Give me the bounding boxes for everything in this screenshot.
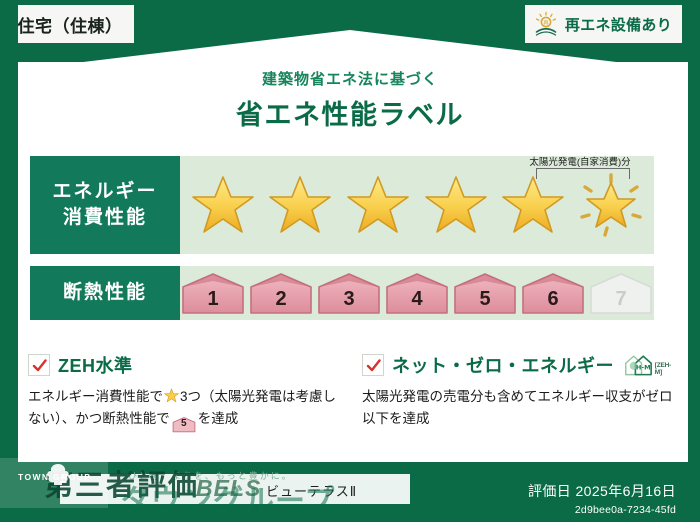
town-group-label: TOWN GROUP bbox=[18, 472, 91, 482]
zeh-m-house-icon: H-M bbox=[624, 352, 654, 378]
zeh-m-logo-caption: [ZEH-M] bbox=[655, 362, 676, 378]
insulation-level-4-value: 4 bbox=[411, 288, 422, 315]
insulation-level-2: 2 bbox=[248, 271, 314, 315]
insulation-level-1-value: 1 bbox=[207, 288, 218, 315]
label-id: 2d9bee0a-7234-45fd bbox=[528, 504, 676, 516]
title-main: 省エネ性能ラベル bbox=[0, 93, 700, 132]
zeh-panel-header: ZEH水準 bbox=[28, 352, 346, 378]
star-icon bbox=[424, 173, 488, 237]
zeh-desc-part-1: エネルギー消費性能で bbox=[28, 389, 163, 404]
zeh-panel-title: ZEH水準 bbox=[58, 352, 133, 378]
svg-text:再: 再 bbox=[543, 19, 549, 26]
insulation-level-3-value: 3 bbox=[343, 288, 354, 315]
evaluation-date: 評価日 2025年6月16日 bbox=[528, 481, 676, 501]
footer-info: 評価日 2025年6月16日 2d9bee0a-7234-45fd bbox=[528, 481, 676, 516]
insulation-level-badge-inline: 5 bbox=[172, 416, 196, 433]
insulation-level-track: 1 2 3 4 bbox=[180, 266, 654, 320]
watermark-overlay: ひとを、まちを、もっと豊かに。 BELS ビューテラスⅡ 第三者評価 タウングル… bbox=[0, 458, 470, 522]
insulation-level-6: 6 bbox=[520, 271, 586, 315]
town-group-tree-icon: TOWN GROUP bbox=[10, 462, 106, 488]
insulation-level-7-value: 7 bbox=[615, 288, 626, 315]
title-subtitle: 建築物省エネ法に基づく bbox=[0, 68, 700, 89]
sun-icon: 再 bbox=[533, 11, 559, 37]
insulation-performance-heading: 断熱性能 bbox=[30, 266, 180, 320]
nze-panel-title: ネット・ゼロ・エネルギー bbox=[392, 352, 614, 378]
nze-panel-description: 太陽光発電の売電分も含めてエネルギー収支がゼロ以下を達成 bbox=[362, 386, 674, 430]
insulation-level-4: 4 bbox=[384, 271, 450, 315]
insulation-level-5: 5 bbox=[452, 271, 518, 315]
frame-right-border bbox=[688, 0, 700, 522]
building-type-tag: 住宅（住棟） bbox=[6, 5, 134, 43]
energy-heading-line-1: エネルギー bbox=[52, 179, 157, 205]
renewable-energy-badge: 再 再エネ設備あり bbox=[525, 5, 682, 43]
zeh-standard-panel: ZEH水準 エネルギー消費性能で3つ（太陽光発電は考慮しない）、かつ断熱性能で5… bbox=[28, 352, 346, 433]
insulation-level-1: 1 bbox=[180, 271, 246, 315]
title-block: 建築物省エネ法に基づく 省エネ性能ラベル bbox=[0, 62, 700, 132]
star-icon bbox=[501, 173, 565, 237]
energy-heading-line-2: 消費性能 bbox=[63, 205, 147, 231]
svg-text:H-M: H-M bbox=[636, 363, 651, 371]
insulation-level-badge-inline-value: 5 bbox=[181, 416, 187, 433]
insulation-level-7: 7 bbox=[588, 271, 654, 315]
pv-annotation-bracket bbox=[536, 168, 630, 179]
group-name-watermark: タウングループ bbox=[120, 476, 335, 520]
insulation-performance-row: 断熱性能 1 2 bbox=[30, 266, 654, 320]
renewable-energy-badge-label: 再エネ設備あり bbox=[565, 14, 672, 35]
insulation-level-6-value: 6 bbox=[547, 288, 558, 315]
pv-annotation-label: 太陽光発電(自家消費)分 bbox=[510, 154, 650, 168]
energy-star-track: 太陽光発電(自家消費)分 bbox=[180, 156, 654, 254]
check-icon bbox=[28, 354, 50, 376]
zeh-panel-description: エネルギー消費性能で3つ（太陽光発電は考慮しない）、かつ断熱性能で5を達成 bbox=[28, 386, 346, 433]
energy-performance-label: 住宅（住棟） 再 再エネ設備あり 建築物省エネ法に基づく 省エネ性能ラベル bbox=[0, 0, 700, 522]
energy-performance-row: エネルギー 消費性能 bbox=[30, 156, 654, 254]
building-type-tag-label: 住宅（住棟） bbox=[18, 12, 123, 37]
zeh-m-logo: H-M [ZEH-M] bbox=[624, 352, 675, 378]
zeh-desc-part-3: を達成 bbox=[198, 411, 239, 426]
check-icon bbox=[362, 354, 384, 376]
star-icon bbox=[191, 173, 255, 237]
star-icon bbox=[346, 173, 410, 237]
insulation-level-2-value: 2 bbox=[275, 288, 286, 315]
star-pv-icon bbox=[579, 173, 643, 237]
star-icon bbox=[164, 388, 179, 403]
insulation-level-3: 3 bbox=[316, 271, 382, 315]
net-zero-energy-panel: ネット・ゼロ・エネルギー H-M [ZEH-M] 太陽光発電の売電分も含めてエネ… bbox=[362, 352, 674, 430]
energy-performance-heading: エネルギー 消費性能 bbox=[30, 156, 180, 254]
insulation-heading-label: 断熱性能 bbox=[63, 280, 147, 306]
frame-left-border bbox=[0, 0, 18, 522]
insulation-level-5-value: 5 bbox=[479, 288, 490, 315]
nze-panel-header: ネット・ゼロ・エネルギー H-M [ZEH-M] bbox=[362, 352, 674, 378]
star-icon bbox=[268, 173, 332, 237]
